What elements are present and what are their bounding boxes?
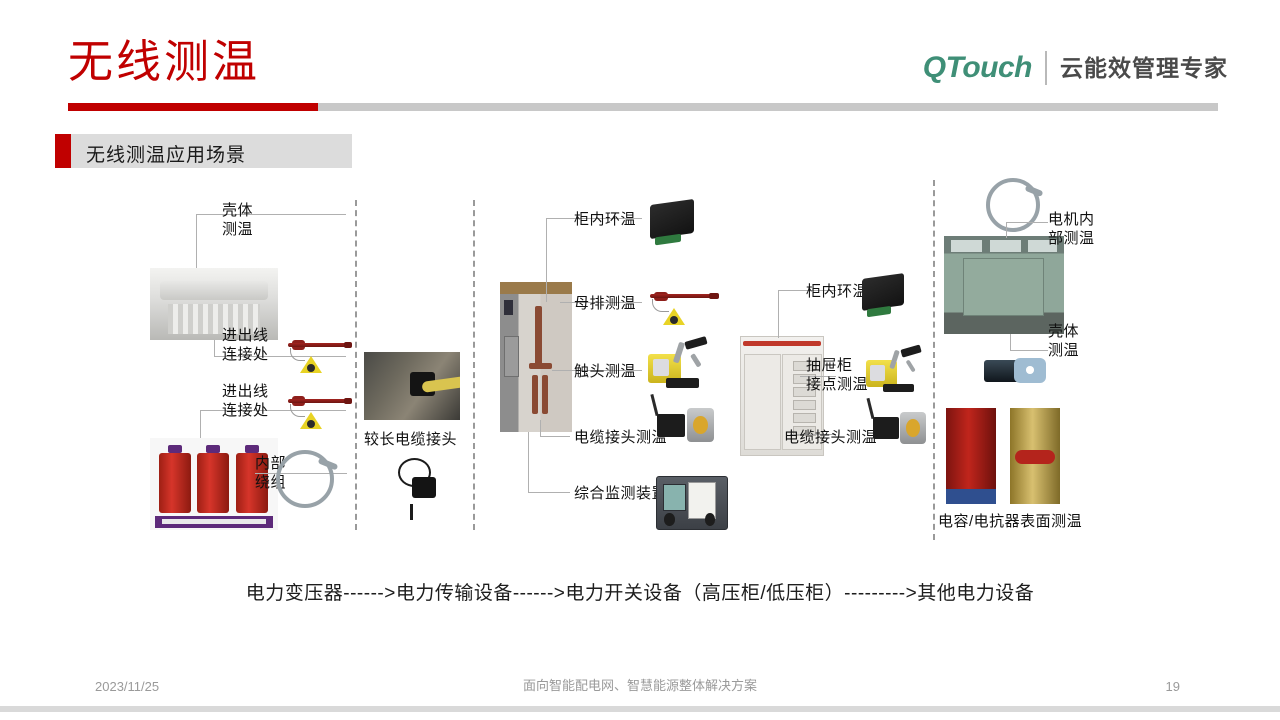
leader-integrated-h: [528, 492, 570, 494]
column-divider-3: [933, 180, 935, 540]
sensor-tag-1: [300, 356, 322, 373]
label-hv-cabinet-ambient: 柜内环温: [574, 210, 636, 229]
reactor-gold-photo: [1010, 408, 1060, 504]
cable-probe-device: [392, 458, 436, 506]
hv-switchgear-photo: [500, 282, 572, 432]
label-integrated-monitor: 综合监测装置: [574, 484, 667, 503]
section-bar-label: 无线测温应用场景: [86, 140, 246, 167]
label-capacitor-surface-temp: 电容/电抗器表面测温: [938, 512, 1082, 531]
label-shell-temp: 壳体测温: [222, 201, 280, 239]
leader-motor-shell-v: [1010, 334, 1012, 350]
label-long-cable-joint: 较长电缆接头: [364, 430, 457, 449]
logo-tagline: 云能效管理专家: [1060, 51, 1228, 85]
hv-cable-joint-sensor: [652, 402, 714, 448]
motor-photo: [944, 236, 1064, 334]
column-divider-2: [473, 200, 475, 530]
ambient-temp-module-lv: [862, 273, 904, 311]
leader-hv-ambient-v: [546, 218, 548, 302]
contact-clamp-sensor: [648, 340, 712, 392]
ambient-temp-module-hv: [650, 199, 694, 239]
footer-page-number: 19: [1166, 679, 1180, 694]
column-divider-1: [355, 200, 357, 530]
page-title: 无线测温: [68, 34, 260, 90]
leader-lead2-v: [200, 410, 202, 438]
leader-shell: [196, 214, 198, 268]
long-cable-joint-photo: [364, 352, 460, 420]
title-rule-red: [68, 103, 318, 111]
drawer-contact-clamp-sensor: [866, 348, 926, 396]
winding-coil-sensor: [276, 450, 334, 508]
capacitor-red-photo: [946, 408, 996, 504]
lv-cable-joint-sensor: [868, 406, 926, 450]
label-motor-shell-temp: 壳体测温: [1048, 322, 1108, 360]
leader-hv-cable-v: [540, 420, 542, 436]
integrated-monitoring-device: [656, 476, 728, 530]
slide-root: 无线测温 QTouch 云能效管理专家 无线测温应用场景 壳体测温: [0, 0, 1280, 720]
brand-logo: QTouch 云能效管理专家: [923, 48, 1228, 88]
logo-divider: [1045, 51, 1047, 85]
leader-motor-internal-h: [1006, 222, 1048, 224]
sensor-tag-2: [300, 412, 322, 429]
label-motor-internal-temp: 电机内部测温: [1048, 210, 1120, 248]
leader-motor-shell-h: [1010, 350, 1048, 352]
diagram-canvas: 壳体测温 进出线连接处 进出线连接处 内部绕组 较长电缆接头: [0, 170, 1280, 570]
label-busbar-temp: 母排测温: [574, 294, 636, 313]
label-lead-connection-2: 进出线连接处: [222, 382, 292, 420]
surface-temp-sensor: [984, 356, 1046, 386]
section-bar-marker: [55, 134, 71, 168]
leader-lead1-v: [214, 340, 216, 356]
label-lead-connection-1: 进出线连接处: [222, 326, 292, 364]
label-contact-temp: 触头测温: [574, 362, 636, 381]
logo-wordmark: QTouch: [923, 51, 1032, 85]
label-lv-cabinet-ambient: 柜内环温: [806, 282, 868, 301]
leader-lv-ambient-v: [778, 290, 780, 338]
leader-hv-cable-h: [540, 436, 570, 438]
footer-rule: [0, 706, 1280, 712]
leader-motor-internal-v: [1006, 222, 1008, 238]
busbar-sensor-tag: [663, 308, 685, 325]
leader-integrated-v: [528, 432, 530, 492]
equipment-flow-line: 电力变压器------>电力传输设备------>电力开关设备（高压柜/低压柜）…: [0, 578, 1280, 605]
footer-subtitle: 面向智能配电网、智慧能源整体解决方案: [0, 675, 1280, 694]
label-lv-cable-joint-temp: 电缆接头测温: [784, 428, 877, 447]
